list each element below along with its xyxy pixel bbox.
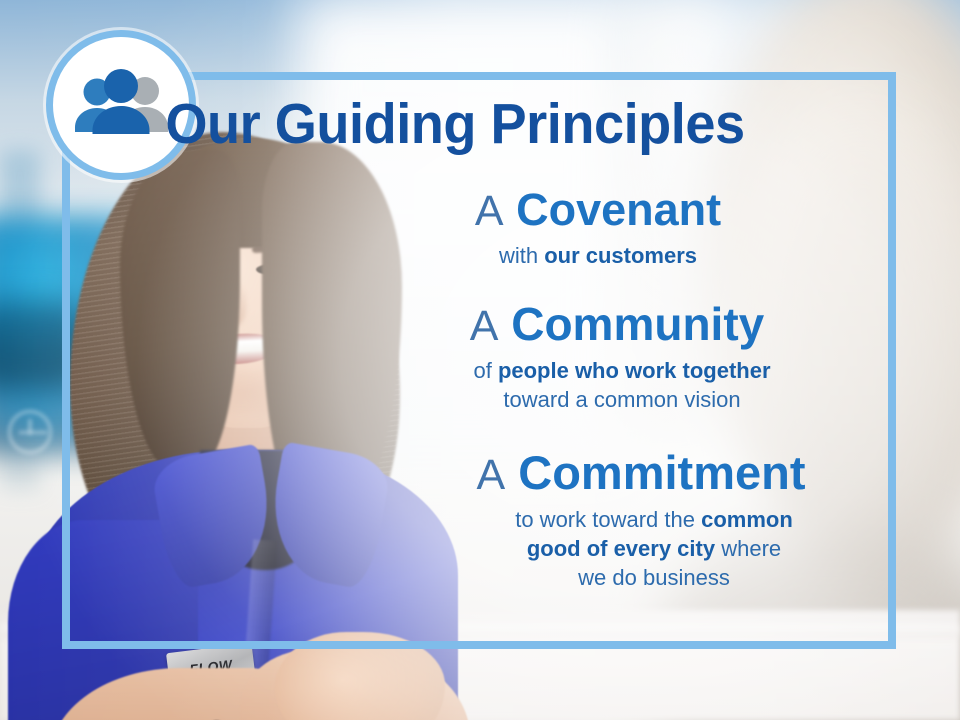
subtext-run: we do business — [578, 565, 730, 590]
subtext-run: where — [715, 536, 781, 561]
principle-heading: A Commitment — [372, 448, 910, 499]
subtext-run: to work toward the — [515, 507, 701, 532]
principle-heading: A Covenant — [286, 186, 910, 235]
principle-commitment: A Commitment to work toward the commongo… — [372, 448, 910, 593]
subtext-run: with — [499, 243, 544, 268]
subtext-emphasis: people who work together — [498, 358, 771, 383]
principle-subtext: to work toward the commongood of every c… — [454, 505, 854, 593]
principle-keyword: Community — [511, 298, 764, 350]
subtext-run: toward a common vision — [503, 387, 740, 412]
principle-covenant: A Covenant with our customers — [286, 186, 910, 270]
principle-subtext: of people who work togethertoward a comm… — [334, 356, 910, 415]
principle-article: A — [470, 302, 499, 350]
principle-article: A — [477, 451, 506, 499]
principle-community: A Community of people who work togethert… — [324, 300, 910, 414]
subtext-line: we do business — [454, 563, 854, 592]
principle-keyword: Covenant — [516, 184, 721, 235]
subtext-line: good of every city where — [454, 534, 854, 563]
subtext-line: of people who work together — [334, 356, 910, 385]
principle-subtext: with our customers — [286, 241, 910, 270]
principle-article: A — [475, 187, 504, 235]
poster-canvas: FLOW FLOW Our Guiding Principles — [0, 0, 960, 720]
subtext-emphasis: good of every city — [527, 536, 715, 561]
subtext-line: to work toward the common — [454, 505, 854, 534]
hair-front-left — [120, 150, 240, 470]
principles-list: A Covenant with our customers A Communit… — [300, 186, 910, 601]
subtext-emphasis: our customers — [544, 243, 697, 268]
principle-heading: A Community — [324, 300, 910, 350]
subtext-line: with our customers — [286, 241, 910, 270]
subtext-emphasis: common — [701, 507, 793, 532]
subtext-run: of — [473, 358, 497, 383]
subtext-line: toward a common vision — [334, 385, 910, 414]
principle-keyword: Commitment — [518, 446, 805, 499]
page-title: Our Guiding Principles — [23, 96, 888, 153]
